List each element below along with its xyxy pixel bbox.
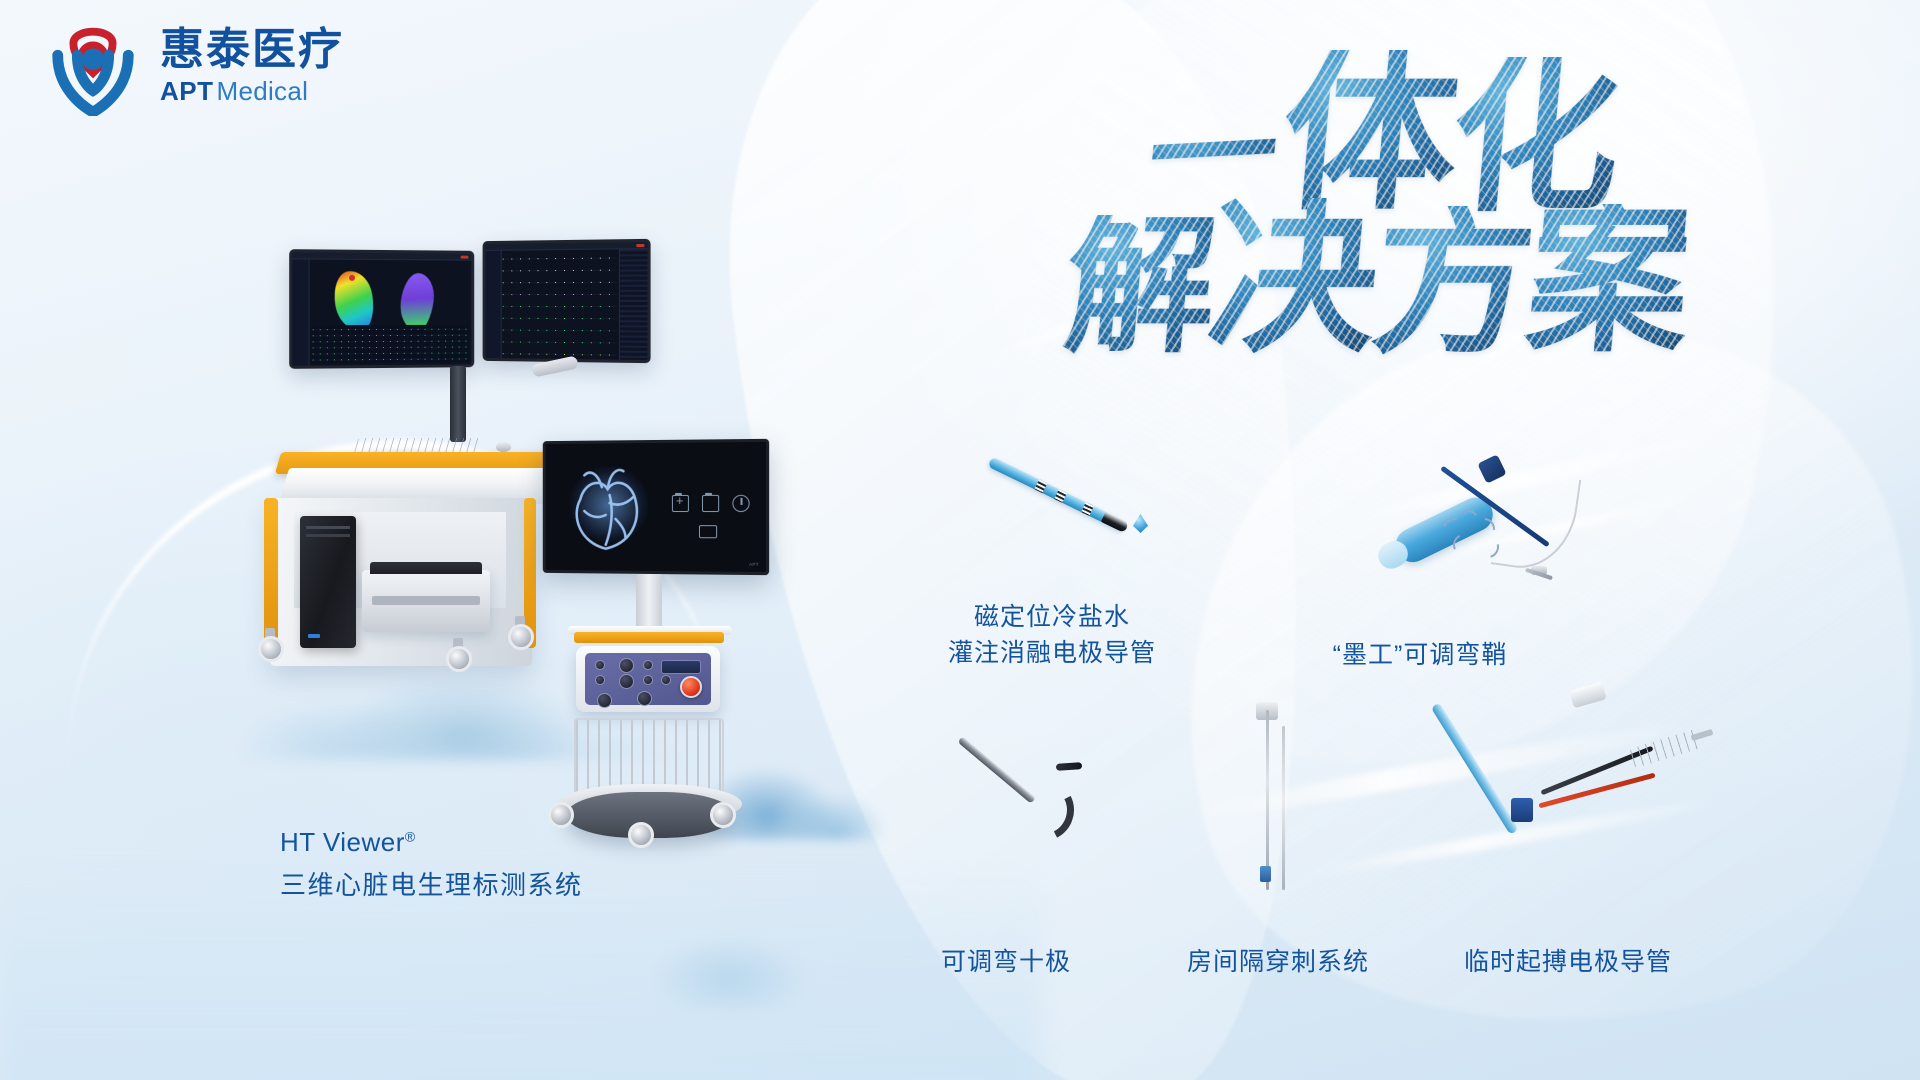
- caster-wheel: [444, 638, 474, 672]
- ground-port[interactable]: [597, 693, 612, 708]
- hemostasis-valve: [1525, 562, 1553, 584]
- glyph-jie: 解: [1060, 215, 1222, 358]
- generator-front-panel: [585, 653, 711, 705]
- brand-medical: Medical: [217, 76, 309, 107]
- ecg-waveform-area: [503, 251, 617, 355]
- cart-rail-left: [264, 498, 278, 648]
- catheter-port[interactable]: [637, 691, 652, 706]
- generator-display: [661, 660, 701, 674]
- catheter-electrodes: [1056, 762, 1082, 771]
- catheter-shaft: [988, 457, 1128, 533]
- ht-viewer-subtitle: 三维心脏电生理标测系统: [280, 867, 583, 904]
- open-folder-icon[interactable]: [702, 495, 719, 512]
- lead-hub: [1569, 682, 1607, 709]
- brand-name-en: APT Medical: [160, 76, 344, 107]
- label-decapolar-catheter: 可调弯十极: [941, 945, 1071, 981]
- display-and-generator-cart: APT: [540, 440, 830, 860]
- screen-icon-row: [672, 495, 750, 512]
- red-connector-cable: [1538, 773, 1655, 809]
- screen-toolbar: [292, 252, 471, 260]
- mouse[interactable]: [496, 442, 511, 452]
- sheath-tubing: [1491, 469, 1582, 575]
- cart-shelf-edge: [574, 632, 724, 643]
- glyph-fang: 方: [1367, 206, 1540, 358]
- needle-tip: [1260, 866, 1271, 882]
- brand-lockup: 惠泰医疗 APT Medical: [160, 27, 344, 106]
- paper-slot: [372, 596, 480, 605]
- caster-wheel: [256, 628, 286, 662]
- connector-port[interactable]: [595, 660, 605, 670]
- transseptal-needle: [1266, 710, 1269, 890]
- headline-line-2: 解 决 方 案: [960, 198, 1690, 358]
- electrode-band: [1081, 502, 1094, 516]
- monitor-mapping-display: [289, 249, 474, 369]
- curve-indicator: [1443, 510, 1503, 570]
- heart-display-monitor: APT: [543, 439, 769, 575]
- headline-calligraphy: 一 体 化 解 决 方 案: [960, 50, 1690, 350]
- lead-connector-block: [1511, 798, 1533, 822]
- ecg-channel-list: [619, 249, 648, 360]
- ecg-trace-band: [311, 325, 470, 364]
- pacing-catheter-image: [1425, 690, 1695, 880]
- brand-name-cn: 惠泰医疗: [160, 27, 344, 73]
- emergency-stop-button[interactable]: [680, 676, 702, 698]
- caster-wheel: [708, 796, 738, 828]
- connector-port[interactable]: [595, 675, 605, 685]
- ht-viewer-name: HT Viewer®: [280, 824, 583, 861]
- display-column: [636, 574, 662, 634]
- label-pacing-catheter: 临时起搏电极导管: [1464, 945, 1672, 981]
- electrode-band: [1054, 489, 1067, 503]
- pacing-lead-shaft: [1431, 702, 1519, 835]
- connector-port[interactable]: [661, 675, 671, 685]
- label-ablation-catheter: 磁定位冷盐水 灌注消融电极导管: [948, 600, 1156, 671]
- cardiac-voltage-map: [397, 271, 436, 332]
- screen-brand-mark: APT: [749, 562, 759, 567]
- catheter-tip: [1101, 512, 1129, 533]
- apt-medical-heart-logo-icon: [44, 18, 142, 116]
- map-marker: [349, 275, 355, 281]
- dilator-shaft: [1282, 726, 1285, 890]
- connector-port[interactable]: [643, 675, 653, 685]
- printer: [362, 570, 490, 632]
- connector-port[interactable]: [619, 674, 634, 689]
- label-transseptal-system: 房间隔穿刺系统: [1187, 945, 1369, 981]
- poster-canvas: 惠泰医疗 APT Medical 一 体 化 解 决 方 案: [0, 0, 1920, 1080]
- computer-tower: [300, 516, 356, 648]
- settings-icon[interactable]: [699, 525, 717, 538]
- printer-lid: [370, 562, 482, 574]
- label-ht-viewer: HT Viewer® 三维心脏电生理标测系统: [280, 824, 583, 904]
- electrode-band: [1034, 479, 1047, 493]
- brand-logo: 惠泰医疗 APT Medical: [44, 18, 344, 116]
- new-folder-icon[interactable]: [672, 495, 689, 512]
- glyph-jue: 决: [1203, 198, 1385, 358]
- mapping-screen: [292, 252, 471, 366]
- saline-droplet: [1133, 514, 1148, 533]
- ecg-screen: [485, 242, 647, 360]
- screen-sidebar: [292, 259, 309, 365]
- blue-mist-b: [600, 860, 860, 1010]
- rf-generator: [576, 646, 720, 712]
- screen-sidebar: [485, 251, 501, 358]
- decapolar-catheter-image: [960, 735, 1080, 855]
- label-steerable-sheath: “墨工”可调弯鞘: [1333, 638, 1508, 674]
- caster-wheel: [626, 816, 656, 848]
- power-led: [308, 634, 320, 638]
- monitor-pole: [450, 366, 466, 442]
- monitor-ecg-recording: [483, 239, 651, 363]
- ablation-catheter-image: [990, 430, 1180, 550]
- connector-port[interactable]: [619, 658, 634, 673]
- brand-apt: APT: [160, 76, 214, 107]
- power-icon[interactable]: [732, 495, 749, 512]
- transseptal-system-image: [1230, 710, 1320, 910]
- heart-illustration: [559, 459, 661, 559]
- caster-wheel: [506, 616, 536, 650]
- glyph-an: 案: [1521, 204, 1696, 358]
- connector-port[interactable]: [643, 660, 653, 670]
- trademark-symbol: ®: [405, 828, 416, 844]
- steerable-sheath-image: [1385, 440, 1685, 630]
